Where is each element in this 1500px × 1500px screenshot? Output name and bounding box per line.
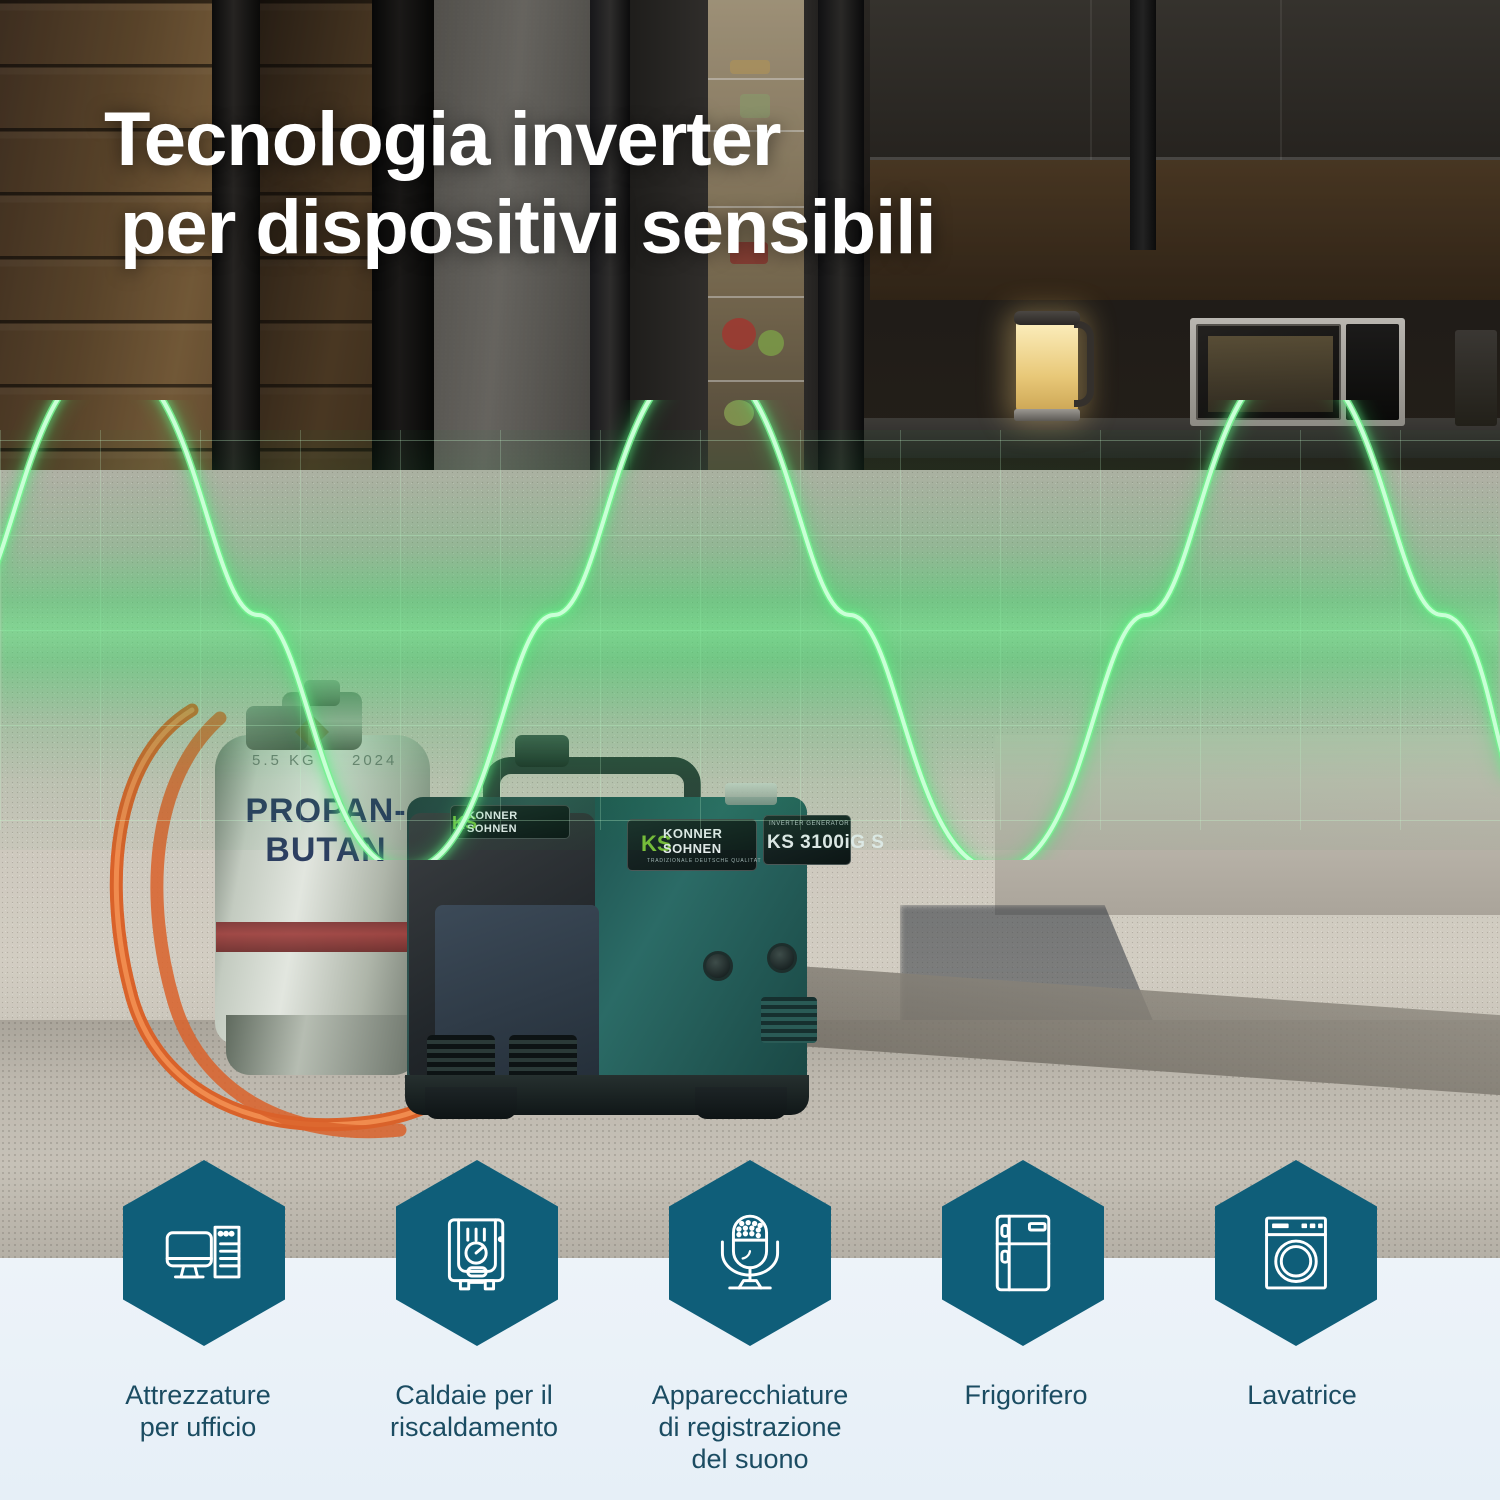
generator-vent-slots (761, 997, 817, 1043)
fridge-shelf (708, 78, 804, 80)
feature-label-sound-recording: Apparecchiature di registrazione del suo… (612, 1380, 888, 1476)
hexagon-badge (669, 1160, 831, 1346)
feature-item-office-equipment[interactable] (118, 1160, 290, 1360)
upper-cabinets (870, 0, 1500, 160)
boiler-icon (431, 1207, 523, 1299)
feature-item-heating-boiler[interactable] (391, 1160, 563, 1360)
hexagon-badge (123, 1160, 285, 1346)
microphone-icon (704, 1207, 796, 1299)
label-line-1: Attrezzature (60, 1380, 336, 1412)
cabinet-seam (1280, 0, 1282, 160)
feature-item-washing-machine[interactable] (1210, 1160, 1382, 1360)
feature-item-refrigerator[interactable] (937, 1160, 1109, 1360)
label-line-1: Frigorifero (888, 1380, 1164, 1412)
headline-line-1: Tecnologia inverter (104, 96, 935, 184)
feature-label-heating-boiler: Caldaie per il riscaldamento (336, 1380, 612, 1476)
label-line-2: di registrazione (612, 1412, 888, 1444)
hexagon-badge (1215, 1160, 1377, 1346)
fridge-shelf (708, 296, 804, 298)
kitchen-backsplash (870, 160, 1500, 300)
label-line-1: Caldaie per il (336, 1380, 612, 1412)
generator-foot (425, 1087, 517, 1119)
label-line-1: Lavatrice (1164, 1380, 1440, 1412)
headline-line-2: per dispositivi sensibili (120, 184, 935, 272)
hexagon-badge (942, 1160, 1104, 1346)
hexagon-badge (396, 1160, 558, 1346)
feature-label-washing-machine: Lavatrice (1164, 1380, 1440, 1476)
feature-label-row: Attrezzature per ufficio Caldaie per il … (0, 1380, 1500, 1476)
kettle-lid (1014, 311, 1080, 325)
kettle-handle (1074, 321, 1094, 407)
fridge-food-item (730, 60, 770, 74)
headline: Tecnologia inverter per dispositivi sens… (104, 96, 935, 272)
label-line-3: del suono (612, 1444, 888, 1476)
sine-wave-graphic (0, 400, 1500, 860)
generator-foot (695, 1087, 787, 1119)
label-line-2: riscaldamento (336, 1412, 612, 1444)
power-socket[interactable] (767, 943, 797, 973)
label-line-2: per ufficio (60, 1412, 336, 1444)
fridge-shelf (708, 380, 804, 382)
washing-machine-icon (1250, 1207, 1342, 1299)
label-line-1: Apparecchiature (612, 1380, 888, 1412)
infographic-root: 5.5 KG 2024 PROPAN-BUTAN (0, 0, 1500, 1500)
power-socket[interactable] (703, 951, 733, 981)
door-jamb (1130, 0, 1156, 250)
feature-label-refrigerator: Frigorifero (888, 1380, 1164, 1476)
fridge-apple (758, 330, 784, 356)
cabinet-seam (1090, 0, 1092, 160)
feature-label-office-equipment: Attrezzature per ufficio (60, 1380, 336, 1476)
fridge-tomato (722, 318, 756, 350)
desktop-computer-icon (158, 1207, 250, 1299)
feature-item-sound-recording[interactable] (664, 1160, 836, 1360)
refrigerator-icon (977, 1207, 1069, 1299)
feature-icon-row (0, 1160, 1500, 1360)
